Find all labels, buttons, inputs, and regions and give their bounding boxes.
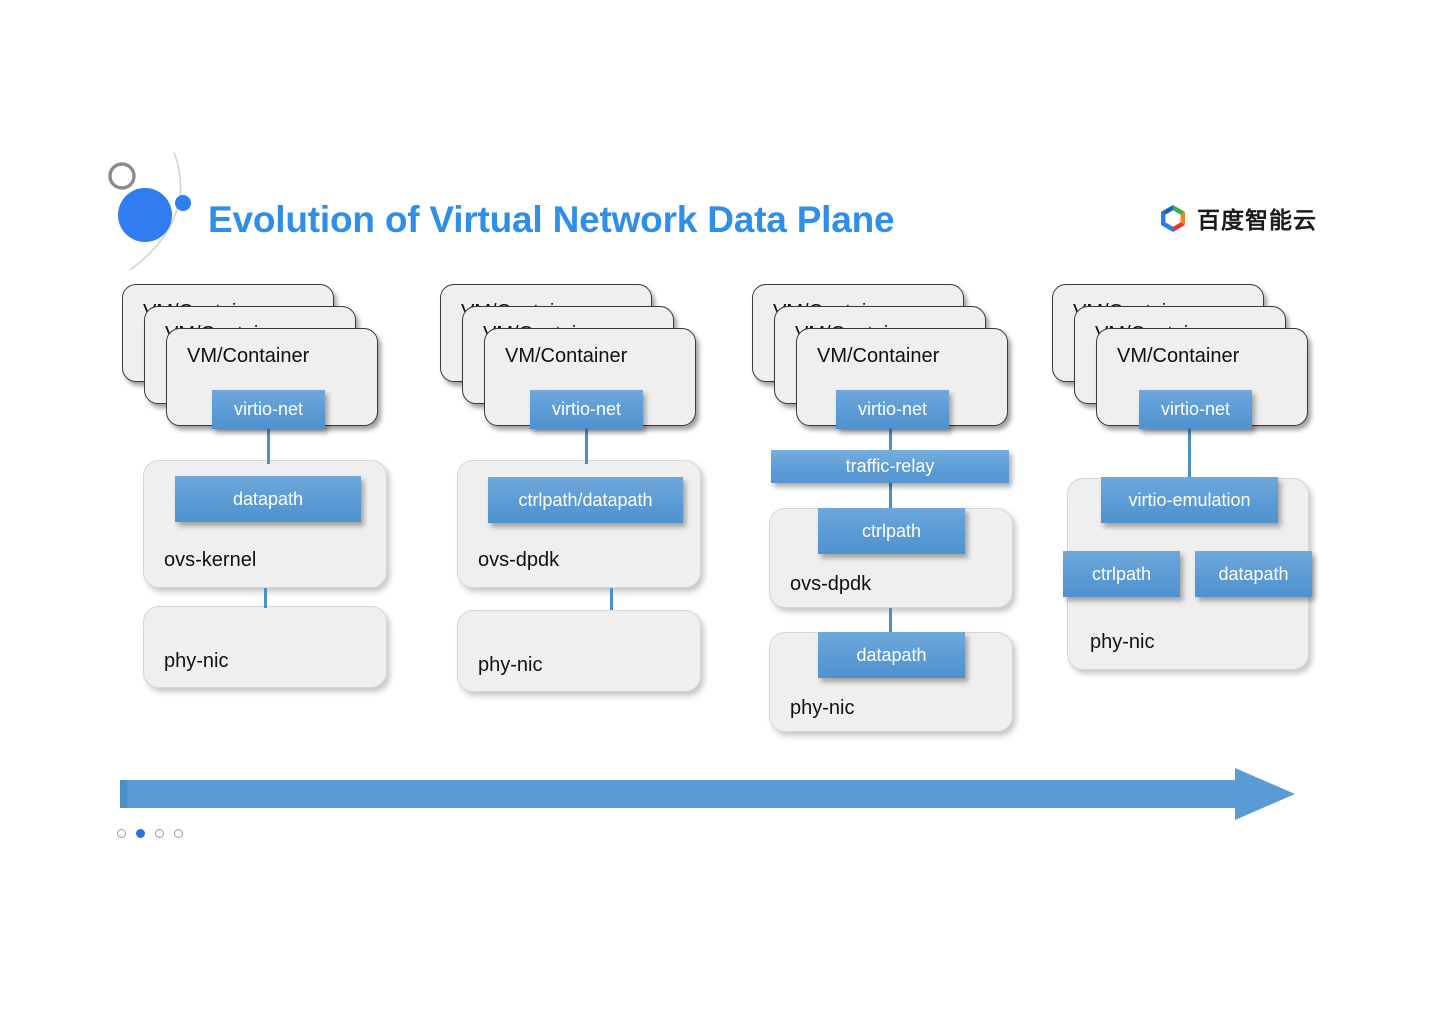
host-box-label: ovs-dpdk (478, 549, 559, 572)
connector-virtio-to-nic (1188, 428, 1191, 480)
chip-virtio-emulation: virtio-emulation (1101, 477, 1278, 523)
connector-host-to-nic (889, 608, 892, 633)
host-box-label: phy-nic (478, 654, 542, 677)
chip-ctrlpath-datapath: ctrlpath/datapath (488, 477, 683, 523)
chip-datapath: datapath (175, 476, 361, 522)
chip-traffic-relay: traffic-relay (771, 450, 1009, 483)
page-dot-3[interactable] (155, 829, 164, 838)
host-box-phy-nic: phy-nic (457, 610, 701, 692)
connector-host-to-nic (264, 588, 267, 608)
chip-datapath: datapath (1195, 551, 1312, 597)
page-dot-2[interactable] (136, 829, 145, 838)
host-box-label: phy-nic (164, 650, 228, 673)
timeline-arrow-svg (120, 768, 1295, 820)
connector-virtio-to-host (585, 428, 588, 464)
timeline-arrow (120, 768, 1295, 820)
connector-virtio-to-relay (889, 428, 892, 452)
host-box-label: phy-nic (1090, 631, 1154, 654)
connector-relay-to-host (889, 483, 892, 510)
chip-virtio-net: virtio-net (836, 390, 949, 429)
chip-virtio-net: virtio-net (530, 390, 643, 429)
page-dot-1[interactable] (117, 829, 126, 838)
host-box-label: phy-nic (790, 697, 854, 720)
connector-host-to-nic (610, 588, 613, 610)
chip-ctrlpath: ctrlpath (1063, 551, 1180, 597)
vm-card-label: VM/Container (1117, 345, 1239, 368)
host-box-label: ovs-dpdk (790, 573, 871, 596)
page-dots (117, 829, 183, 838)
connector-virtio-to-host (267, 428, 270, 464)
chip-datapath: datapath (818, 632, 965, 678)
vm-card-label: VM/Container (505, 345, 627, 368)
architecture-diagram: VM/Container VM/Container VM/Container v… (0, 0, 1440, 1018)
vm-card-label: VM/Container (817, 345, 939, 368)
chip-virtio-net: virtio-net (212, 390, 325, 429)
page-dot-4[interactable] (174, 829, 183, 838)
chip-virtio-net: virtio-net (1139, 390, 1252, 429)
host-box-phy-nic: phy-nic (143, 606, 387, 688)
vm-card-label: VM/Container (187, 345, 309, 368)
host-box-label: ovs-kernel (164, 549, 256, 572)
chip-ctrlpath: ctrlpath (818, 508, 965, 554)
